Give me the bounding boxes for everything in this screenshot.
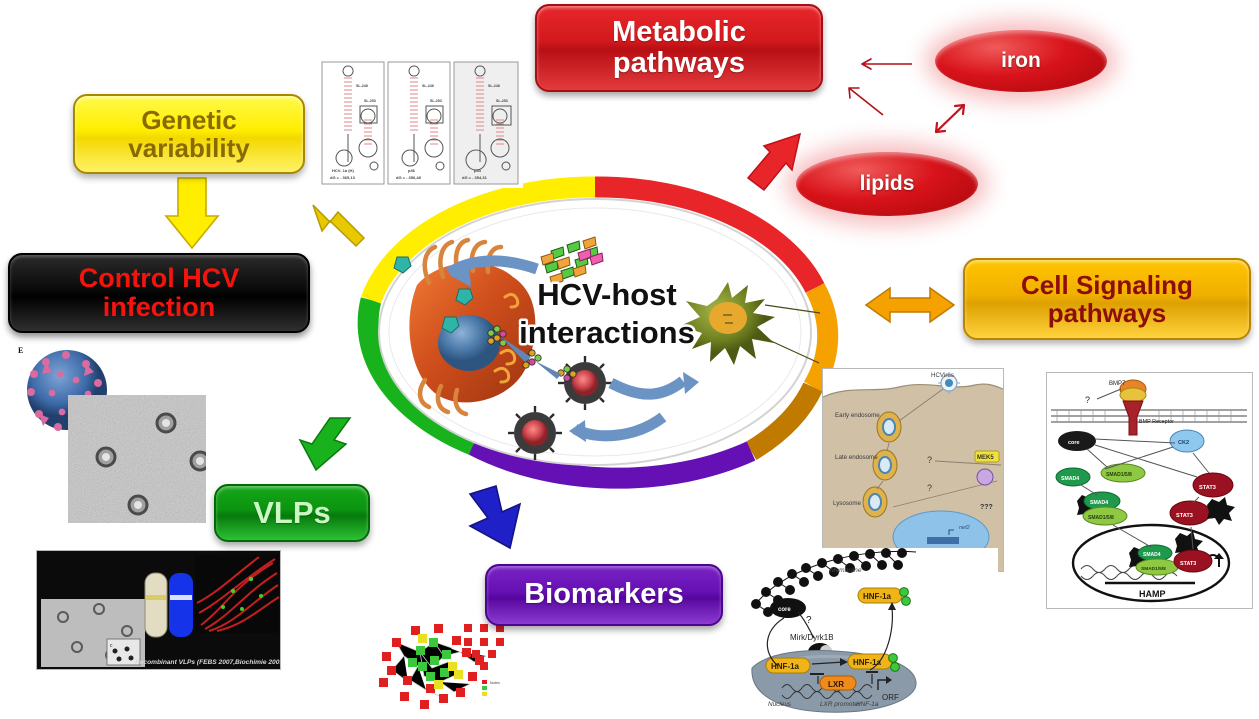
- endosome-label-mek5: MEK5: [977, 455, 994, 461]
- genetic-line1: Genetic: [141, 105, 236, 135]
- hamp-label-stat3c: STAT3: [1180, 561, 1196, 567]
- biomarkers-line1: Biomarkers: [524, 578, 684, 610]
- endosome-trafficking-panel: nef2 MEK5 ??? HCVirus Early endosome Lat…: [822, 368, 1004, 572]
- arrow-to-signaling: [866, 288, 954, 322]
- endosome-label-early: Early endosome: [835, 412, 880, 419]
- hamp-label-q: ?: [1085, 395, 1090, 405]
- hamp-label-hamp: HAMP: [1139, 589, 1166, 599]
- network-legend-title: Nodes: [490, 681, 500, 685]
- central-ring: HCV-host interactions: [345, 165, 845, 500]
- hamp-label-smad4c: SMAD4: [1143, 552, 1161, 558]
- hamp-label-receptor: BMP Receptor: [1139, 419, 1174, 425]
- hnf-label-hnf1a-prom: HNF-1a: [856, 701, 879, 708]
- metabolic-line1: Metabolic: [612, 16, 746, 48]
- rna-stem-label: SL-248: [488, 84, 500, 88]
- hamp-label-stat3: STAT3: [1199, 485, 1216, 491]
- hamp-label-smad158c: SMAD1/5/8: [1141, 566, 1166, 572]
- hamp-label-core: core: [1068, 440, 1080, 446]
- rna-structure-thumbnail: SL-248 SL-253 SL-248 SL-253 SL-248 SL-25…: [318, 58, 523, 188]
- hamp-label-bmp7: BMP7: [1109, 381, 1126, 387]
- hnf1a-lxr-panel: Membrane core ? Mirk/Dyrk1B HNF-1a HNF-1…: [748, 548, 998, 719]
- bmp-smad-stat3-hamp-panel: core CK2 SMAD4 SMAD1/5/8 STAT3 SMAD4 SMA…: [1046, 372, 1253, 609]
- figure-canvas: HCV-host interactions: [0, 0, 1259, 719]
- label-vlps[interactable]: VLPs: [214, 484, 370, 542]
- hamp-label-stat3b: STAT3: [1176, 513, 1193, 519]
- hnf-label-orf: ORF: [882, 693, 899, 702]
- label-biomarkers[interactable]: Biomarkers: [485, 564, 723, 626]
- arrow-genetic-to-control: [166, 178, 218, 248]
- rna-panel-caption: dG = - 354,31: [462, 175, 488, 180]
- rna-stem-label: SL-253: [430, 99, 442, 103]
- endosome-label-lysosome: Lysosome: [833, 500, 862, 507]
- arrow-iron-lipids: [936, 105, 964, 132]
- endosome-label-unknown: ???: [980, 504, 993, 511]
- node-iron-label: iron: [1001, 49, 1041, 73]
- hnf-label-lxr: LXR: [828, 680, 844, 689]
- rna-panel-caption: dG = - 365,13: [330, 175, 356, 180]
- control-line1: Control HCV: [79, 263, 239, 293]
- hnf-label-hnf1a-out: HNF-1a: [863, 592, 892, 601]
- hnf-label-hnf1a-cyto: HNF-1a: [853, 658, 882, 667]
- signaling-line2: pathways: [1048, 298, 1167, 328]
- hamp-label-smad158: SMAD1/5/8: [1106, 472, 1132, 478]
- endosome-label-q1: ?: [927, 455, 932, 465]
- rna-stem-label: SL-248: [356, 84, 368, 88]
- arrow-lipids-to-metabolic: [849, 88, 883, 115]
- biomarker-network-panel: Nodes: [374, 612, 514, 717]
- center-title-line2: interactions: [519, 315, 695, 350]
- label-metabolic-pathways[interactable]: Metabolic pathways: [535, 4, 823, 92]
- rna-stem-label: SL-253: [364, 99, 376, 103]
- metabolic-line2: pathways: [613, 47, 745, 79]
- rna-panel-caption: p36: [408, 168, 416, 173]
- endosome-label-q2: ?: [927, 483, 932, 493]
- rna-panel-caption: HCV- 1a (H): [332, 168, 354, 173]
- virus-model-label: E: [18, 346, 23, 355]
- hamp-label-ck2: CK2: [1178, 440, 1189, 446]
- rna-stem-label: SL-253: [496, 99, 508, 103]
- label-genetic-variability[interactable]: Genetic variability: [73, 94, 305, 174]
- rna-panel-caption: p34: [474, 168, 482, 173]
- hamp-label-smad4b: SMAD4: [1090, 500, 1108, 506]
- label-control-hcv-infection[interactable]: Control HCV infection: [8, 253, 310, 333]
- endosome-label-late: Late endosome: [835, 454, 878, 461]
- endosome-label-nef2: nef2: [959, 525, 970, 531]
- hnf-label-promoter: LXR promoter: [820, 701, 861, 708]
- control-line2: infection: [103, 292, 216, 322]
- vlps-line1: VLPs: [253, 495, 331, 530]
- genetic-line2: variability: [128, 133, 249, 163]
- arrow-iron-to-metabolic: [862, 59, 912, 69]
- hamp-label-smad4: SMAD4: [1061, 476, 1079, 482]
- node-iron[interactable]: iron: [935, 30, 1107, 92]
- arrow-to-vlps: [300, 418, 350, 470]
- rna-panel-caption: dG = - 356,48: [396, 175, 422, 180]
- hnf-label-core: core: [778, 607, 791, 613]
- rna-stem-label: SL-248: [422, 84, 434, 88]
- vlp-electron-micrograph: [68, 395, 206, 523]
- vlp-panel-caption: Recombinant VLPs (FEBS 2007,Biochimie 20…: [135, 659, 280, 666]
- endosome-label-hcvirus: HCVirus: [931, 372, 954, 379]
- node-lipids[interactable]: lipids: [796, 152, 978, 216]
- node-lipids-label: lipids: [860, 172, 915, 196]
- hnf-label-membrane: Membrane: [830, 567, 862, 574]
- label-cell-signaling-pathways[interactable]: Cell Signaling pathways: [963, 258, 1251, 340]
- signaling-line1: Cell Signaling: [1021, 270, 1193, 300]
- hamp-label-smad158b: SMAD1/5/8: [1088, 515, 1114, 521]
- vlp-composite-panel: c Recombinant VLPs (FEB: [36, 550, 281, 670]
- hnf-label-nucleus: Nucleus: [768, 701, 792, 708]
- center-title-line1: HCV-host: [537, 277, 677, 312]
